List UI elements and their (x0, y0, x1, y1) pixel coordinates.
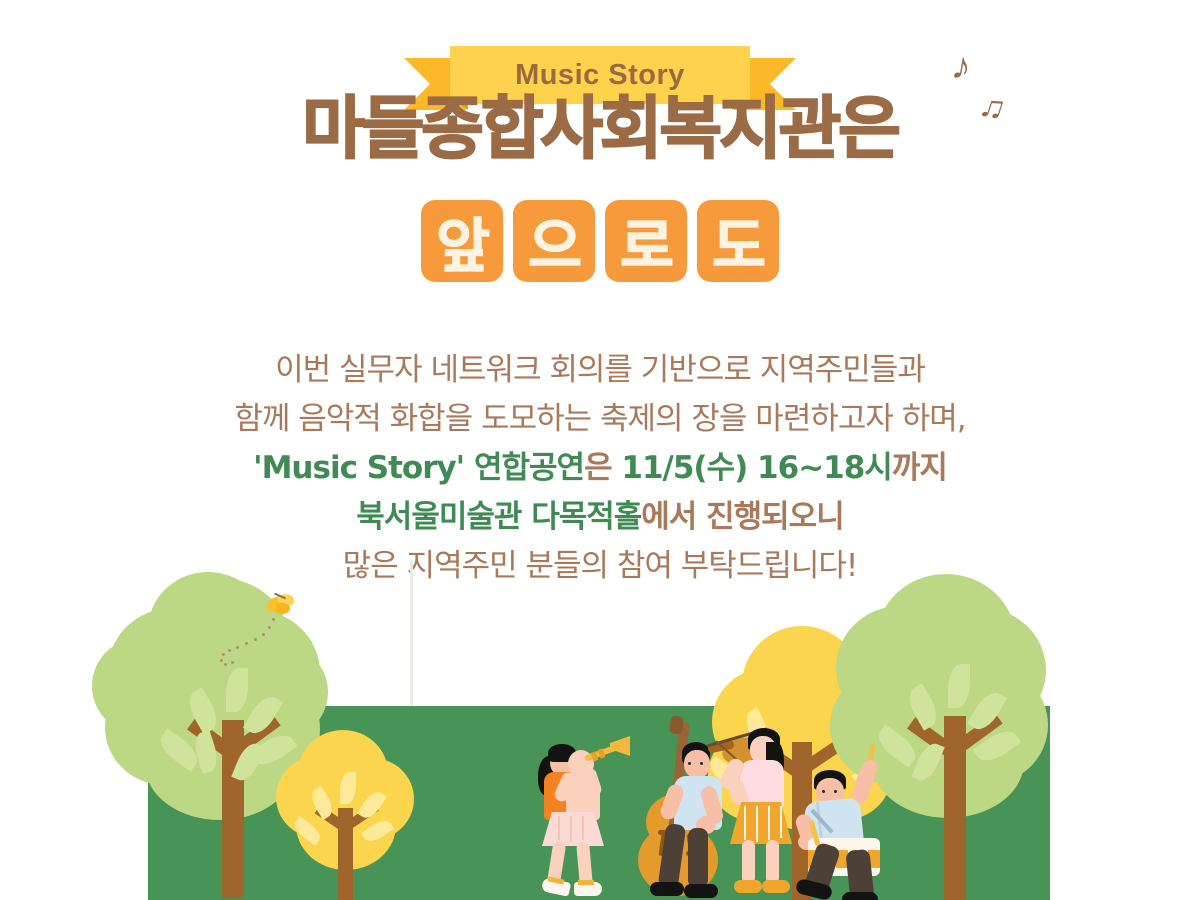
body-run: 'Music Story' 연합공연 (253, 450, 584, 486)
tile-3: 로 (605, 200, 687, 282)
highlight-tiles: 앞 으 로 도 (0, 200, 1200, 282)
poster-canvas: Music Story 마들종합사회복지관은 ♪ ♫ 앞 으 로 도 이번 실무… (0, 0, 1200, 900)
body-line-4: 북서울미술관 다목적홀에서 진행되오니 (0, 495, 1200, 544)
ribbon-label: Music Story (515, 59, 685, 92)
tile-4: 도 (697, 200, 779, 282)
snare-drum-player (790, 746, 910, 900)
trumpet-player (536, 728, 636, 900)
body-line-2: 함께 음악적 화합을 도모하는 축제의 장을 마련하고자 하며, (0, 397, 1200, 446)
body-run: 북서울미술관 다목적홀 (356, 499, 641, 535)
body-line-3: 'Music Story' 연합공연은 11/5(수) 16~18시까지 (0, 446, 1200, 495)
body-run: 에서 진행되오니 (641, 499, 843, 535)
body-run: 은 (584, 450, 621, 486)
park-band-illustration (0, 560, 1200, 900)
tile-2: 으 (513, 200, 595, 282)
body-line-1: 이번 실무자 네트워크 회의를 기반으로 지역주민들과 (0, 348, 1200, 397)
ribbon-banner: Music Story (0, 26, 1200, 92)
page-title: 마들종합사회복지관은 (0, 96, 1200, 164)
body-run: 11/5(수) 16~18시 (621, 450, 891, 486)
tile-1: 앞 (421, 200, 503, 282)
body-paragraph: 이번 실무자 네트워크 회의를 기반으로 지역주민들과함께 음악적 화합을 도모… (0, 348, 1200, 593)
body-run: 함께 음악적 화합을 도모하는 축제의 장을 마련하고자 하며, (234, 401, 965, 437)
body-run: 까지 (892, 450, 947, 486)
body-run: 이번 실무자 네트워크 회의를 기반으로 지역주민들과 (275, 352, 925, 388)
violin-player (704, 720, 804, 900)
